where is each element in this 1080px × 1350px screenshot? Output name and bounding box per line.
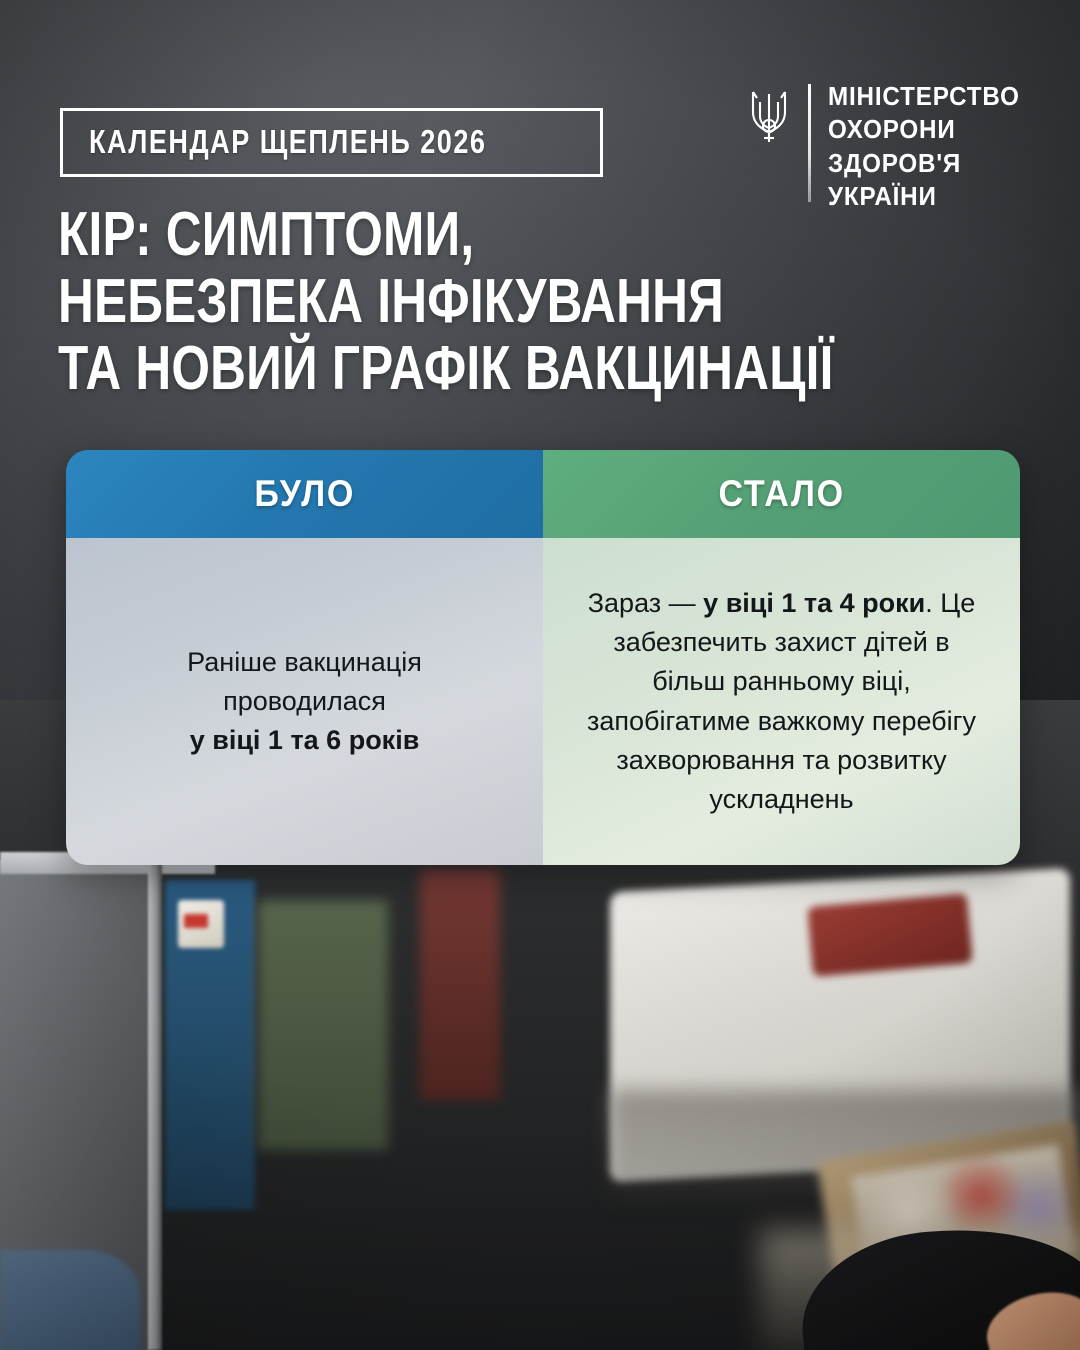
calendar-badge-label: КАЛЕНДАР ЩЕПЛЕНЬ 2026 (89, 125, 486, 158)
ukraine-trident-icon (747, 86, 791, 148)
comparison-column-now: СТАЛО Зараз — у віці 1 та 4 роки. Це заб… (543, 450, 1020, 865)
poster-root: КАЛЕНДАР ЩЕПЛЕНЬ 2026 КІР: СИМПТОМИ, НЕБ… (0, 0, 1080, 1350)
headline-line-1: КІР: СИМПТОМИ, (58, 205, 698, 266)
ministry-logo: МІНІСТЕРСТВО ОХОРОНИ ЗДОРОВ'Я УКРАЇНИ (747, 80, 1034, 213)
page-title: КІР: СИМПТОМИ, НЕБЕЗПЕКА ІНФІКУВАННЯ ТА … (58, 205, 858, 405)
calendar-badge: КАЛЕНДАР ЩЕПЛЕНЬ 2026 (60, 108, 603, 177)
logo-line-3: ЗДОРОВ'Я (828, 147, 1020, 180)
logo-divider (808, 84, 811, 202)
was-text-plain: Раніше вакцинація проводилася (187, 647, 422, 716)
comparison-column-was: БУЛО Раніше вакцинація проводилася у віц… (66, 450, 543, 865)
headline-line-2: НЕБЕЗПЕКА ІНФІКУВАННЯ (58, 272, 698, 333)
comparison-body-now-text: Зараз — у віці 1 та 4 роки. Це забезпечи… (583, 584, 980, 819)
comparison-header-now: СТАЛО (543, 450, 1020, 538)
comparison-header-now-label: СТАЛО (718, 473, 844, 515)
logo-line-2: ОХОРОНИ (828, 113, 1020, 146)
now-text-lead: Зараз — (588, 588, 703, 618)
logo-text: МІНІСТЕРСТВО ОХОРОНИ ЗДОРОВ'Я УКРАЇНИ (828, 80, 1034, 213)
now-text-rest: . Це забезпечить захист дітей в більш ра… (587, 588, 976, 814)
comparison-header-was-label: БУЛО (254, 473, 355, 515)
now-text-bold: у віці 1 та 4 роки (703, 588, 925, 618)
comparison-body-now: Зараз — у віці 1 та 4 роки. Це забезпечи… (543, 538, 1020, 865)
headline-line-3: ТА НОВИЙ ГРАФІК ВАКЦИНАЦІЇ (58, 339, 698, 400)
logo-line-4: УКРАЇНИ (828, 180, 1020, 213)
was-text-bold: у віці 1 та 6 років (190, 725, 420, 755)
comparison-body-was: Раніше вакцинація проводилася у віці 1 т… (66, 538, 543, 865)
poster-content: КАЛЕНДАР ЩЕПЛЕНЬ 2026 КІР: СИМПТОМИ, НЕБ… (0, 0, 1080, 1350)
comparison-card: БУЛО Раніше вакцинація проводилася у віц… (66, 450, 1020, 865)
logo-line-1: МІНІСТЕРСТВО (828, 80, 1020, 113)
comparison-header-was: БУЛО (66, 450, 543, 538)
comparison-body-was-text: Раніше вакцинація проводилася у віці 1 т… (106, 643, 503, 760)
